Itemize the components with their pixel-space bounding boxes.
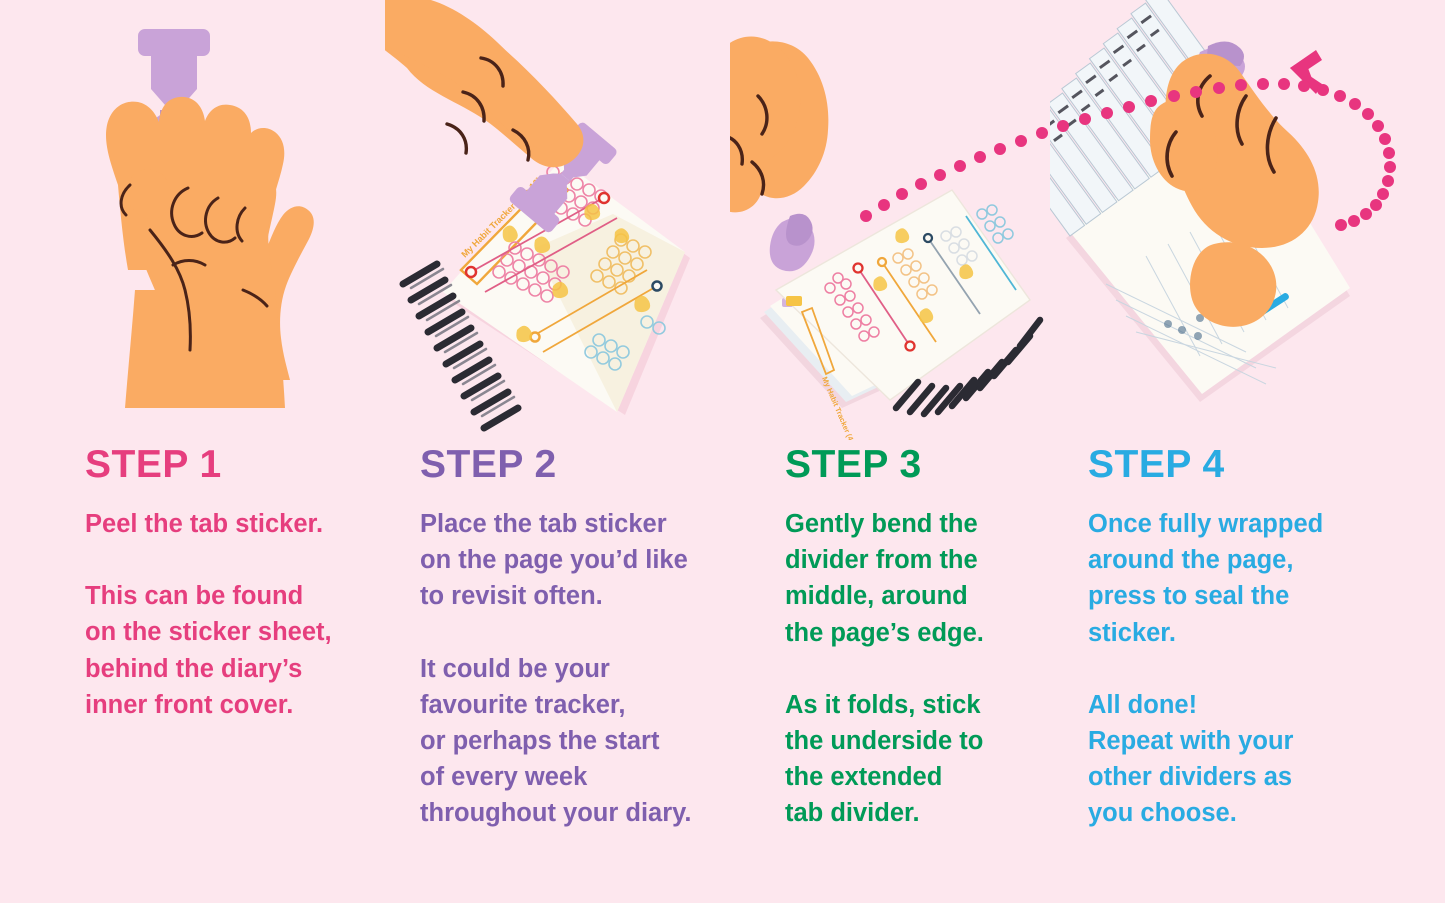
- illustration-row: My Habit Tracker (4 to 10): [0, 0, 1445, 440]
- step-2-title: STEP 2: [420, 445, 750, 484]
- illustration-step-1: [55, 0, 395, 440]
- illustration-step-2: My Habit Tracker (4 to 10): [385, 0, 715, 440]
- step-1-title: STEP 1: [85, 445, 395, 484]
- step-4-title: STEP 4: [1088, 445, 1388, 484]
- step-1-paragraph-2: This can be found on the sticker sheet, …: [85, 578, 395, 723]
- hand-icon: [730, 37, 828, 216]
- hand-icon: [385, 0, 583, 167]
- instruction-graphic: My Habit Tracker (4 to 10): [0, 0, 1445, 903]
- folded-lavender-tab-icon: [770, 214, 815, 272]
- step-3-paragraph-1: Gently bend the divider from the middle,…: [785, 506, 1060, 651]
- step-2-paragraph-2: It could be your favourite tracker, or p…: [420, 651, 750, 832]
- step-column-3: STEP 3 Gently bend the divider from the …: [785, 445, 1060, 832]
- illustration-step-4: [1050, 0, 1390, 440]
- spiral-notebook-habit-tracker: My Habit Tracker (4 to 10): [776, 190, 1040, 440]
- step-2-paragraph-1: Place the tab sticker on the page you’d …: [420, 506, 750, 615]
- step-3-title: STEP 3: [785, 445, 1060, 484]
- step-4-paragraph-1: Once fully wrapped around the page, pres…: [1088, 506, 1388, 651]
- step-4-paragraph-2: All done! Repeat with your other divider…: [1088, 687, 1388, 832]
- step-column-1: STEP 1 Peel the tab sticker. This can be…: [85, 445, 395, 723]
- dotted-arrow-head-icon: [1290, 50, 1322, 94]
- step-column-4: STEP 4 Once fully wrapped around the pag…: [1088, 445, 1388, 832]
- step-1-paragraph-1: Peel the tab sticker.: [85, 506, 395, 542]
- hand-icon: [106, 97, 314, 408]
- step-3-paragraph-2: As it folds, stick the underside to the …: [785, 687, 1060, 832]
- steps-text-row: STEP 1 Peel the tab sticker. This can be…: [0, 445, 1445, 903]
- step-column-2: STEP 2 Place the tab sticker on the page…: [420, 445, 750, 832]
- illustration-step-3: My Habit Tracker (4 to 10): [730, 0, 1060, 440]
